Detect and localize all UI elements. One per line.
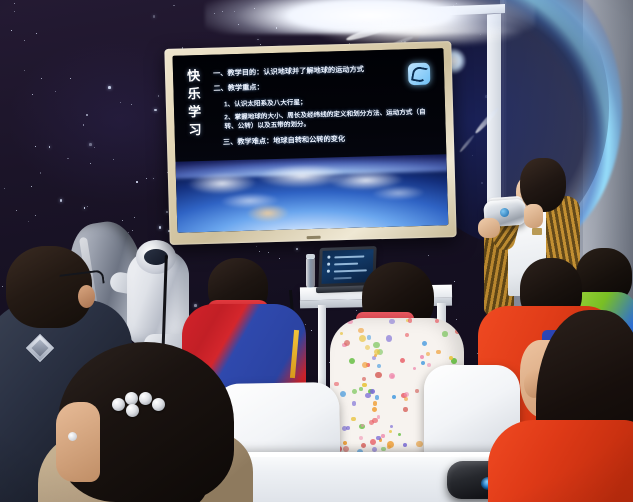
jacket-print-motif	[361, 443, 366, 448]
jacket-print-motif	[415, 389, 419, 393]
jacket-print-motif	[381, 434, 384, 437]
jacket-print-motif	[442, 331, 448, 337]
presenter-badge	[532, 228, 542, 235]
jacket-print-motif	[389, 319, 395, 325]
vertical-title-char-2: 乐	[187, 85, 201, 103]
jacket-print-motif	[370, 439, 376, 445]
jacket-print-motif	[362, 362, 368, 368]
swirl-logo-glyph	[410, 65, 427, 82]
jacket-print-motif	[362, 377, 366, 381]
jacket-print-motif	[362, 383, 366, 387]
jacket-print-motif	[416, 441, 423, 448]
vertical-title-char-3: 学	[188, 103, 202, 121]
jacket-print-motif	[387, 441, 394, 448]
jacket-print-motif	[381, 447, 385, 451]
jacket-print-motif	[390, 425, 393, 428]
jacket-print-motif	[349, 358, 356, 365]
display-screen: 快 乐 学 习 一、教学目的：认识地球并了解地球的运动方式 二、教学重点： 1、…	[173, 48, 449, 232]
jacket-print-motif	[420, 355, 424, 359]
jacket-print-motif	[373, 401, 378, 406]
jacket-print-motif	[386, 335, 392, 341]
display-ir-sensor	[306, 236, 320, 239]
jacket-print-motif	[389, 430, 392, 433]
slide-line-1: 一、教学目的：认识地球并了解地球的运动方式	[213, 63, 434, 79]
jacket-print-motif	[377, 415, 380, 418]
man-left-ear	[78, 285, 95, 308]
jacket-print-motif	[421, 361, 425, 365]
jacket-print-motif	[340, 332, 344, 336]
pearl-hair-clip	[112, 392, 166, 410]
jacket-print-motif	[347, 319, 353, 325]
finger-ring	[68, 432, 77, 441]
slide-content: 快 乐 学 习 一、教学目的：认识地球并了解地球的运动方式 二、教学重点： 1、…	[173, 48, 449, 232]
wall-display[interactable]: 快 乐 学 习 一、教学目的：认识地球并了解地球的运动方式 二、教学重点： 1、…	[164, 41, 456, 245]
jacket-print-motif	[404, 392, 409, 397]
jacket-print-motif	[343, 441, 347, 445]
jacket-print-motif	[369, 420, 374, 425]
jacket-print-motif	[422, 341, 427, 346]
jacket-print-motif	[398, 433, 401, 436]
swirl-logo	[408, 63, 431, 86]
man-left-head	[6, 246, 92, 328]
jacket-print-motif	[426, 352, 430, 356]
jacket-print-motif	[403, 443, 408, 448]
woman-front-left-hand	[56, 402, 100, 482]
water-bottle	[306, 258, 315, 288]
jacket-print-motif	[352, 389, 357, 394]
jacket-print-motif	[436, 350, 441, 355]
slide-vertical-title: 快 乐 学 习	[187, 67, 202, 139]
jacket-print-motif	[352, 401, 357, 406]
presenter-hair	[520, 158, 566, 212]
jacket-print-motif	[375, 372, 381, 378]
jacket-print-motif	[334, 382, 338, 386]
jacket-print-motif	[455, 329, 460, 334]
slide-line-2: 二、教学重点：	[213, 78, 434, 94]
jacket-print-motif	[340, 391, 347, 398]
jacket-print-motif	[427, 363, 431, 367]
vertical-title-char-1: 快	[187, 67, 201, 85]
jacket-print-motif	[392, 395, 396, 399]
jacket-print-motif	[400, 358, 406, 364]
jacket-print-motif	[375, 395, 380, 400]
jacket-print-motif	[342, 426, 348, 432]
jacket-print-motif	[359, 387, 363, 391]
slide-line-4: 2、掌握地球的大小、周长及经纬线的定义和划分方法、运动方式（自转、公转）以及五带…	[224, 108, 429, 132]
jacket-print-motif	[377, 364, 381, 368]
jacket-print-motif	[373, 342, 379, 348]
jacket-print-motif	[372, 407, 377, 412]
vertical-title-char-4: 习	[188, 121, 202, 139]
jacket-print-motif	[367, 335, 372, 340]
jacket-print-motif	[351, 417, 356, 422]
slide-line-3: 1、认识太阳系及八大行星；	[224, 93, 435, 109]
slide-line-5: 三、教学难点：地球自转和公转的变化	[223, 131, 436, 147]
jacket-print-motif	[413, 367, 416, 370]
jacket-print-motif	[359, 335, 366, 342]
jacket-print-motif	[404, 397, 409, 402]
jacket-print-motif	[405, 333, 409, 337]
table-leg	[318, 305, 326, 393]
jacket-print-motif	[344, 340, 351, 347]
jacket-print-motif	[435, 319, 439, 323]
display-bezel: 快 乐 学 习 一、教学目的：认识地球并了解地球的运动方式 二、教学重点： 1、…	[164, 41, 456, 245]
slide-text-block: 一、教学目的：认识地球并了解地球的运动方式 二、教学重点： 1、认识太阳系及八大…	[213, 63, 436, 153]
girl-foreground-coat	[488, 420, 633, 502]
presenter-hand-left	[478, 218, 500, 238]
jacket-print-motif	[365, 393, 371, 399]
jacket-print-motif	[359, 436, 363, 440]
jacket-print-motif	[343, 446, 349, 452]
jacket-print-motif	[408, 318, 413, 323]
jacket-print-motif	[358, 328, 364, 334]
presenter-hand-right	[524, 204, 543, 228]
jacket-print-motif	[365, 345, 371, 351]
jacket-print-motif	[403, 407, 408, 412]
screenshot-root: 快 乐 学 习 一、教学目的：认识地球并了解地球的运动方式 二、教学重点： 1、…	[0, 0, 633, 502]
